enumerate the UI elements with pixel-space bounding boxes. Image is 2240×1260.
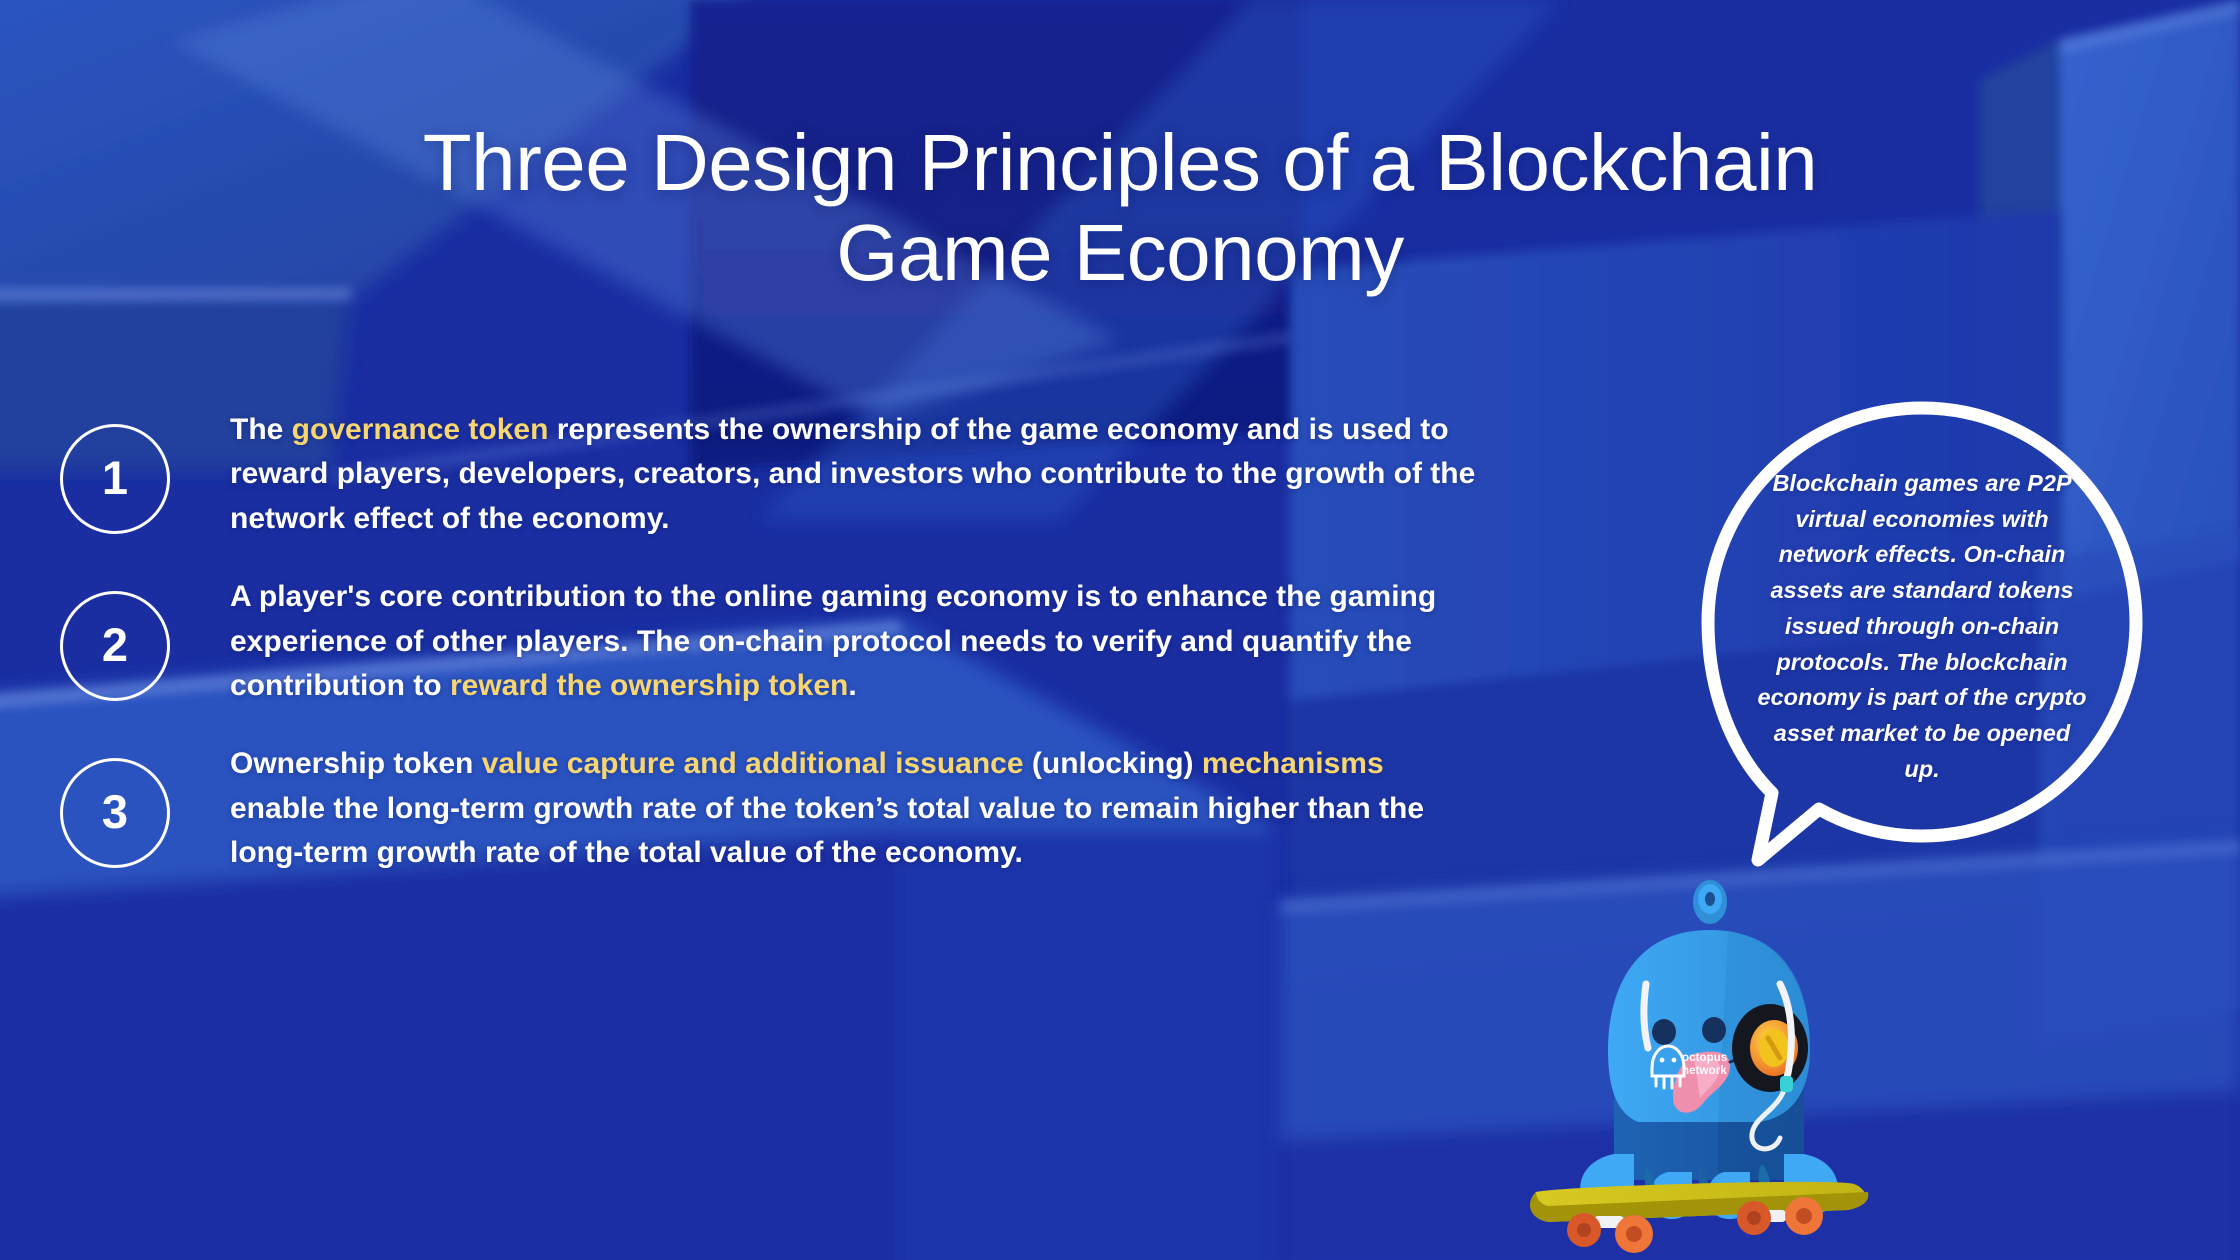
antenna-icon [1693, 880, 1727, 924]
skateboard [1530, 1182, 1868, 1253]
principle-text-highlight: reward the ownership token [450, 669, 848, 702]
principle-number-wrap: 1 [0, 408, 230, 534]
principle-text-segment: Ownership token [230, 747, 482, 780]
speech-bubble-text: Blockchain games are P2P virtual economi… [1756, 466, 2088, 787]
page-title-line-1: Three Design Principles of a Blockchain [200, 118, 2040, 208]
principle-item: 3 Ownership token value capture and addi… [0, 742, 1760, 875]
page-title-line-2: Game Economy [200, 208, 2040, 298]
eye-left [1652, 1019, 1676, 1045]
slide-canvas: Three Design Principles of a Blockchain … [0, 0, 2240, 1260]
principle-text-highlight: value capture and additional issuance [482, 747, 1024, 780]
principle-number-badge: 1 [60, 424, 170, 534]
principle-text-segment: (unlocking) [1024, 747, 1202, 780]
principle-number-badge: 2 [60, 591, 170, 701]
principle-text-segment: . [848, 669, 856, 702]
principles-list: 1 The governance token represents the ow… [0, 408, 1760, 910]
octopus-mascot: octopus network [1518, 872, 1898, 1260]
principle-text-highlight: mechanisms [1202, 747, 1384, 780]
logo-line-2: network [1682, 1065, 1774, 1078]
principle-text-segment: enable the long-term growth rate of the … [230, 792, 1424, 869]
principle-number-badge: 3 [60, 758, 170, 868]
principle-text-segment: The [230, 413, 292, 446]
speech-bubble: Blockchain games are P2P virtual economi… [1698, 398, 2146, 868]
principle-number-wrap: 3 [0, 742, 230, 868]
eye-right [1702, 1017, 1726, 1043]
principle-text-highlight: governance token [292, 413, 549, 446]
logo-line-1: octopus [1682, 1052, 1774, 1065]
principle-text: A player's core contribution to the onli… [230, 575, 1490, 708]
principle-item: 1 The governance token represents the ow… [0, 408, 1760, 541]
headphone-icon [1732, 1004, 1808, 1092]
principle-text: Ownership token value capture and additi… [230, 742, 1480, 875]
principle-text: The governance token represents the owne… [230, 408, 1540, 541]
octopus-network-wordmark: octopus network [1682, 1052, 1774, 1077]
principle-number-wrap: 2 [0, 575, 230, 701]
page-title: Three Design Principles of a Blockchain … [200, 118, 2040, 297]
principle-item: 2 A player's core contribution to the on… [0, 575, 1760, 708]
